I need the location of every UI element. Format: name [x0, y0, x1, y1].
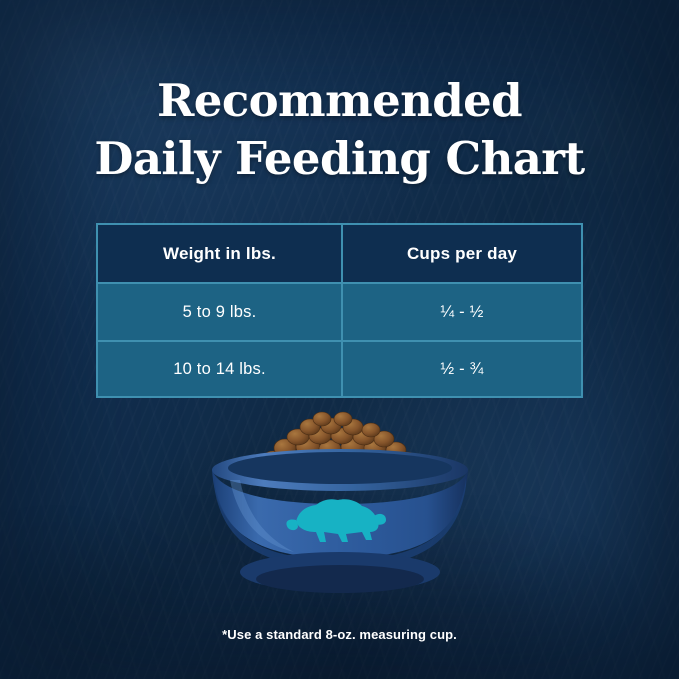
- bowl-illustration: [0, 400, 679, 600]
- column-header-cups: Cups per day: [343, 225, 581, 282]
- feeding-chart-table: Weight in lbs. Cups per day 5 to 9 lbs. …: [96, 223, 583, 398]
- cell-cups: ½ - ¾: [343, 342, 581, 396]
- cell-weight: 10 to 14 lbs.: [98, 342, 343, 396]
- page-title-line-1: Recommended: [157, 74, 522, 127]
- table-row: 10 to 14 lbs. ½ - ¾: [98, 340, 581, 396]
- dog-food-bowl: [190, 448, 490, 598]
- table-header-row: Weight in lbs. Cups per day: [98, 225, 581, 284]
- column-header-weight: Weight in lbs.: [98, 225, 343, 282]
- page-title: Recommended Daily Feeding Chart: [0, 72, 679, 188]
- cell-weight: 5 to 9 lbs.: [98, 284, 343, 340]
- cell-cups: ¼ - ½: [343, 284, 581, 340]
- table-row: 5 to 9 lbs. ¼ - ½: [98, 284, 581, 340]
- footnote: *Use a standard 8-oz. measuring cup.: [0, 627, 679, 642]
- page-title-line-2: Daily Feeding Chart: [0, 130, 679, 188]
- feeding-chart-page: Recommended Daily Feeding Chart Weight i…: [0, 0, 679, 679]
